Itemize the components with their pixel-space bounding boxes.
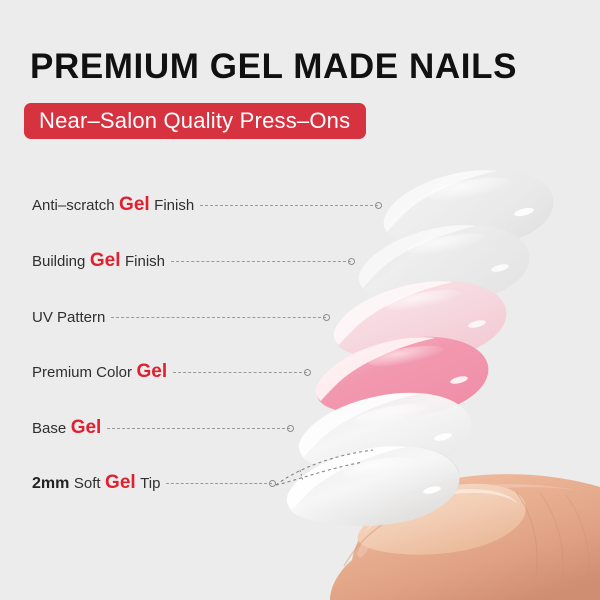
label-segment-plain: Anti–scratch xyxy=(32,197,115,214)
callout-endpoint-premium-color-gel xyxy=(304,369,311,376)
callout-connector-anti-scratch-gel-finish xyxy=(200,205,378,207)
callout-row-soft-gel-tip: 2mmSoftGelTip xyxy=(0,469,600,497)
callout-endpoint-base-gel xyxy=(287,425,294,432)
callout-label-premium-color-gel: Premium ColorGel xyxy=(32,361,167,383)
callout-connector-soft-gel-tip xyxy=(166,483,272,485)
label-segment-plain: Base xyxy=(32,420,66,437)
label-segment-plain: UV Pattern xyxy=(32,309,105,326)
callout-connector-premium-color-gel xyxy=(173,372,307,374)
label-segment-plain: Tip xyxy=(140,475,160,492)
product-infographic: PREMIUM GEL MADE NAILS Near–Salon Qualit… xyxy=(0,0,600,600)
label-segment-gel: Gel xyxy=(137,361,168,383)
label-segment-plain: Premium Color xyxy=(32,364,132,381)
callout-label-soft-gel-tip: 2mmSoftGelTip xyxy=(32,472,160,494)
callout-label-uv-pattern: UV Pattern xyxy=(32,309,105,326)
label-segment-gel: Gel xyxy=(90,250,121,272)
label-segment-plain: Finish xyxy=(154,197,194,214)
callout-connector-building-gel-finish xyxy=(171,261,351,263)
callout-endpoint-anti-scratch-gel-finish xyxy=(375,202,382,209)
callout-endpoint-building-gel-finish xyxy=(348,258,355,265)
callout-row-base-gel: BaseGel xyxy=(0,414,600,442)
label-segment-plain: Building xyxy=(32,253,85,270)
label-segment-plain: Soft xyxy=(74,475,101,492)
label-segment-gel: Gel xyxy=(119,194,150,216)
subtitle-badge-label: Near–Salon Quality Press–Ons xyxy=(39,110,350,132)
label-segment-plain: Finish xyxy=(125,253,165,270)
callout-endpoint-uv-pattern xyxy=(323,314,330,321)
callout-connector-uv-pattern xyxy=(111,317,326,319)
nail-layer-stack-illustration xyxy=(0,0,600,600)
page-title: PREMIUM GEL MADE NAILS xyxy=(30,46,517,88)
subtitle-badge: Near–Salon Quality Press–Ons xyxy=(24,103,366,139)
callout-label-anti-scratch-gel-finish: Anti–scratchGelFinish xyxy=(32,194,194,216)
callout-label-building-gel-finish: BuildingGelFinish xyxy=(32,250,165,272)
label-segment-bold: 2mm xyxy=(32,475,69,493)
callout-endpoint-soft-gel-tip xyxy=(269,480,276,487)
label-segment-gel: Gel xyxy=(71,417,102,439)
callout-label-base-gel: BaseGel xyxy=(32,417,101,439)
label-segment-gel: Gel xyxy=(105,472,136,494)
callout-connector-base-gel xyxy=(107,428,290,430)
